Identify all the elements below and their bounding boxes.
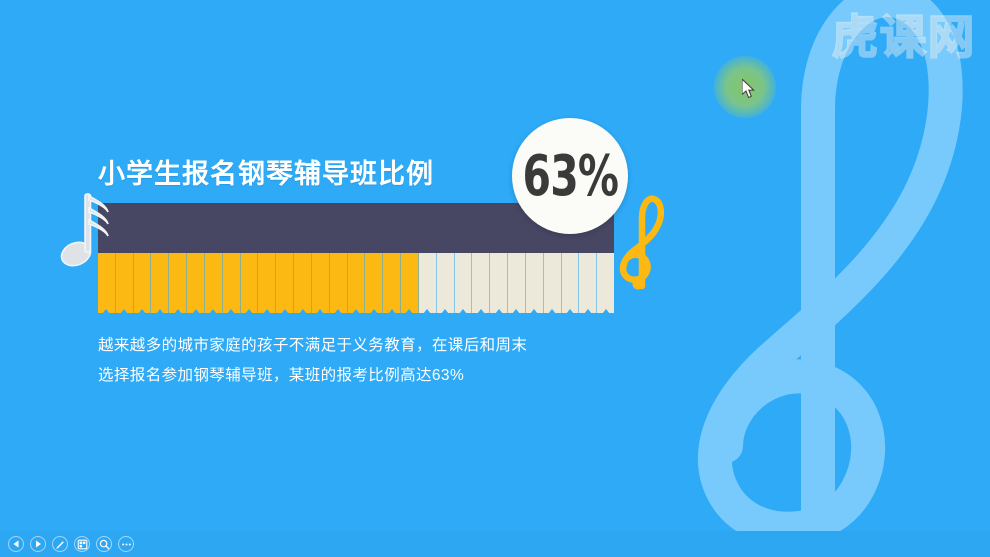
- piano-white-key: [294, 253, 312, 313]
- key-notch: [120, 309, 128, 314]
- key-notch: [477, 309, 485, 314]
- key-notch: [192, 309, 200, 314]
- status-badge: 63%: [512, 118, 628, 234]
- play-button[interactable]: [30, 536, 46, 552]
- piano-white-key: [597, 253, 614, 313]
- key-notch: [281, 309, 289, 314]
- key-notch: [495, 309, 503, 314]
- headline-row: 小学生报名钢琴辅导班比例: [98, 152, 434, 191]
- treble-clef-icon: [614, 192, 668, 292]
- key-notch: [316, 309, 324, 314]
- key-notch: [227, 309, 235, 314]
- key-notch: [405, 309, 413, 314]
- key-notch: [263, 309, 271, 314]
- ellipsis-icon: [120, 538, 133, 551]
- zoom-button[interactable]: [96, 536, 112, 552]
- copy-line-1: 越来越多的城市家庭的孩子不满足于义务教育，在课后和周末: [98, 331, 638, 361]
- cursor-highlight: [714, 56, 776, 118]
- piano-white-key: [223, 253, 241, 313]
- piano-white-key: [258, 253, 276, 313]
- screenshot-button[interactable]: [74, 536, 90, 552]
- key-notch: [245, 309, 253, 314]
- key-notch: [138, 309, 146, 314]
- player-toolbar: [0, 531, 990, 557]
- piano-white-key: [276, 253, 294, 313]
- piano-white-key: [526, 253, 544, 313]
- key-notch: [209, 309, 217, 314]
- piano-white-key: [330, 253, 348, 313]
- piano-white-key: [312, 253, 330, 313]
- piano-white-key: [383, 253, 401, 313]
- site-watermark: 虎课网: [832, 14, 976, 60]
- key-notch: [334, 309, 342, 314]
- pen-icon: [54, 538, 67, 551]
- piano-white-key: [365, 253, 383, 313]
- key-notch: [388, 309, 396, 314]
- key-notch: [299, 309, 307, 314]
- key-notch: [602, 309, 610, 314]
- badge-value: 63%: [522, 144, 618, 209]
- slide-canvas: 虎课网 小学生报名钢琴辅导班比例 63% 越来越多的城市家庭的: [0, 0, 990, 557]
- piano-white-key: [205, 253, 223, 313]
- key-notch: [548, 309, 556, 314]
- key-notch: [584, 309, 592, 314]
- key-notch: [102, 309, 110, 314]
- pen-button[interactable]: [52, 536, 68, 552]
- grid-icon: [76, 538, 89, 551]
- mouse-cursor-icon: [742, 79, 756, 99]
- key-notch: [370, 309, 378, 314]
- piano-white-key: [472, 253, 490, 313]
- piano-white-key: [562, 253, 580, 313]
- piano-white-key: [151, 253, 169, 313]
- key-notch: [174, 309, 182, 314]
- key-notch: [566, 309, 574, 314]
- piano-white-key: [169, 253, 187, 313]
- copy-line-2: 选择报名参加钢琴辅导班，某班的报考比例高达63%: [98, 361, 638, 391]
- piano-white-key: [455, 253, 473, 313]
- piano-white-key: [187, 253, 205, 313]
- piano-white-key: [401, 253, 419, 313]
- key-notch: [423, 309, 431, 314]
- piano-white-key: [544, 253, 562, 313]
- more-button[interactable]: [118, 536, 134, 552]
- key-notch: [512, 309, 520, 314]
- key-notch: [441, 309, 449, 314]
- piano-white-key: [437, 253, 455, 313]
- piano-white-key: [241, 253, 259, 313]
- key-notch: [156, 309, 164, 314]
- triangle-left-icon: [10, 538, 23, 551]
- key-notch: [459, 309, 467, 314]
- piano-white-key: [490, 253, 508, 313]
- previous-button[interactable]: [8, 536, 24, 552]
- eighth-note-icon: [56, 188, 112, 274]
- piano-white-key: [419, 253, 437, 313]
- key-notch: [352, 309, 360, 314]
- piano-white-key: [348, 253, 366, 313]
- triangle-right-icon: [32, 538, 45, 551]
- piano-white-key: [116, 253, 134, 313]
- magnifier-icon: [98, 538, 111, 551]
- piano-white-key: [579, 253, 597, 313]
- white-keys-row: [98, 253, 614, 313]
- page-title: 小学生报名钢琴辅导班比例: [98, 152, 434, 191]
- body-copy: 越来越多的城市家庭的孩子不满足于义务教育，在课后和周末 选择报名参加钢琴辅导班，…: [98, 331, 638, 391]
- piano-white-key: [508, 253, 526, 313]
- key-notch: [530, 309, 538, 314]
- piano-white-key: [134, 253, 152, 313]
